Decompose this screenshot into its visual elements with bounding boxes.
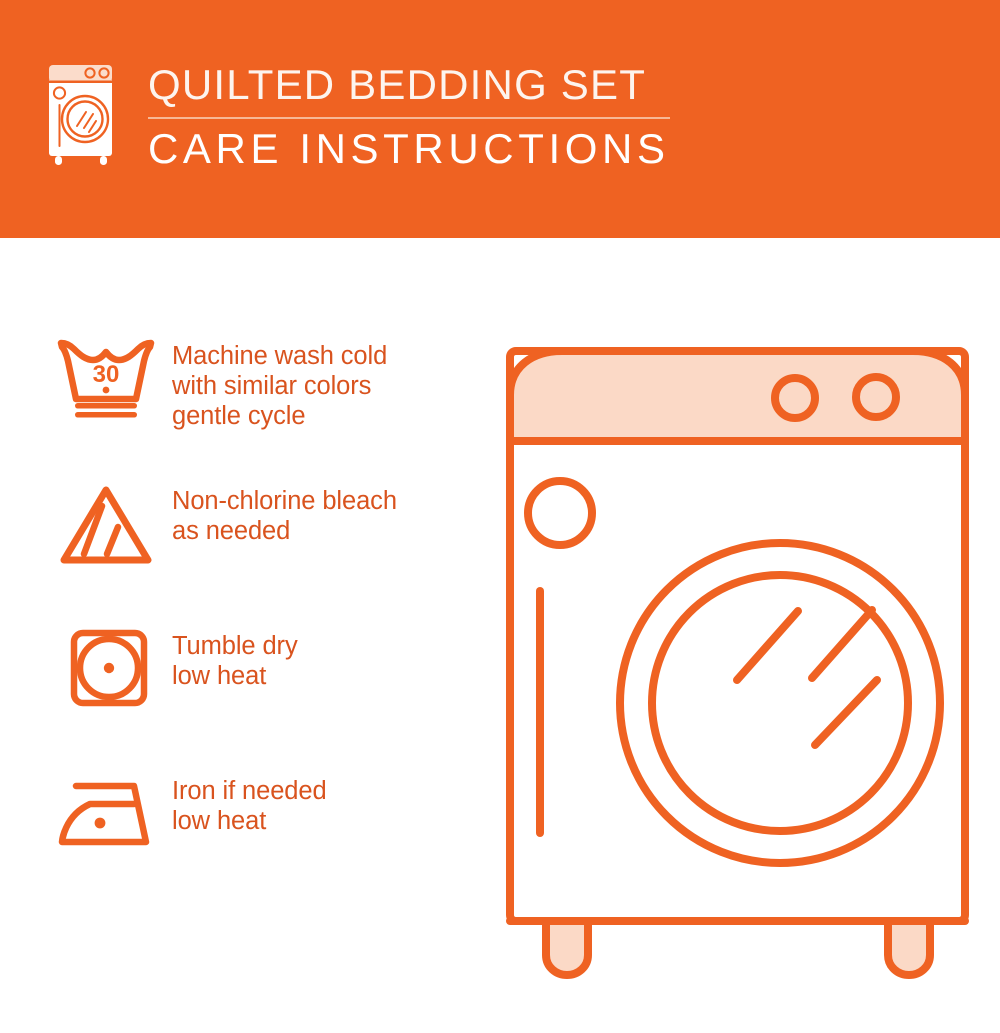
list-item: Tumble dry low heat: [40, 623, 480, 768]
instruction-line: Tumble dry: [172, 631, 298, 661]
wash-tub-30-gentle-icon: 30: [56, 337, 156, 421]
instruction-text: Iron if needed low heat: [172, 768, 327, 836]
instruction-line: Iron if needed: [172, 776, 327, 806]
tumble-dry-low-heat-icon: [56, 627, 156, 711]
iron-low-heat-icon: [56, 772, 156, 856]
list-item: 30 Machine wash cold with similar colors…: [40, 333, 480, 478]
page-subtitle: CARE INSTRUCTIONS: [148, 125, 670, 173]
header-banner: QUILTED BEDDING SET CARE INSTRUCTIONS: [0, 0, 1000, 238]
main-content: 30 Machine wash cold with similar colors…: [0, 238, 1000, 1000]
leg-right: [888, 921, 930, 975]
instruction-line: low heat: [172, 806, 327, 836]
instruction-text: Machine wash cold with similar colors ge…: [172, 333, 387, 431]
non-chlorine-bleach-triangle-icon: [56, 482, 156, 566]
instruction-line: with similar colors: [172, 371, 387, 401]
header-divider: [148, 117, 670, 119]
instruction-line: gentle cycle: [172, 401, 387, 431]
header-text-block: QUILTED BEDDING SET CARE INSTRUCTIONS: [148, 62, 670, 173]
instruction-text: Tumble dry low heat: [172, 623, 298, 691]
wash-temperature-label: 30: [93, 361, 120, 388]
leg-left: [546, 921, 588, 975]
care-instruction-list: 30 Machine wash cold with similar colors…: [40, 333, 480, 913]
instruction-text: Non-chlorine bleach as needed: [172, 478, 397, 546]
symbol-cell: [40, 478, 172, 566]
list-item: Iron if needed low heat: [40, 768, 480, 913]
symbol-cell: [40, 623, 172, 711]
symbol-cell: 30: [40, 333, 172, 421]
symbol-cell: [40, 768, 172, 856]
front-load-washing-machine-illustration: [490, 333, 990, 1033]
list-item: Non-chlorine bleach as needed: [40, 478, 480, 623]
header-content: QUILTED BEDDING SET CARE INSTRUCTIONS: [42, 62, 670, 173]
instruction-line: as needed: [172, 516, 397, 546]
instruction-line: Non-chlorine bleach: [172, 486, 397, 516]
instruction-line: Machine wash cold: [172, 341, 387, 371]
page-title: QUILTED BEDDING SET: [148, 62, 670, 115]
washing-machine-icon: [42, 62, 124, 167]
instruction-line: low heat: [172, 661, 298, 691]
